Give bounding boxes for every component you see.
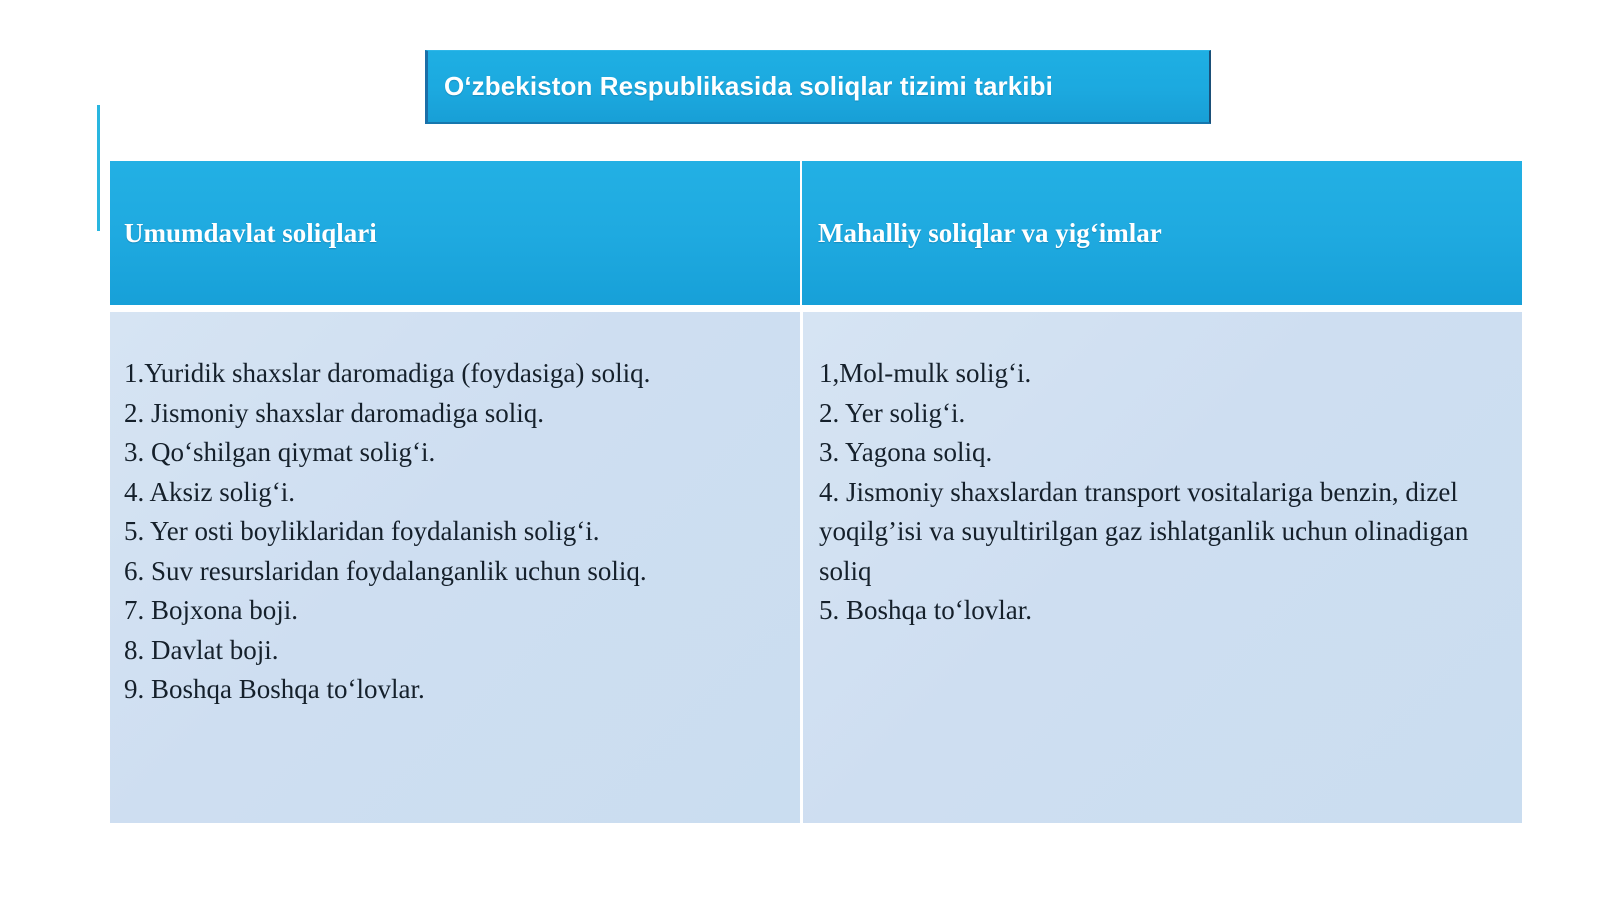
list-item: 4. Jismoniy shaxslardan transport vosita… — [819, 473, 1512, 592]
tax-list-national: 1.Yuridik shaxslar daromadiga (foydasiga… — [124, 354, 790, 710]
list-item: 6. Suv resurslaridan foydalanganlik uchu… — [124, 552, 790, 592]
left-accent-bar — [97, 105, 100, 231]
list-item: 3. Yagona soliq. — [819, 433, 1512, 473]
list-item: 8. Davlat boji. — [124, 631, 790, 671]
header-body-divider — [110, 305, 1522, 312]
table-body-cell-mahalliy: 1,Mol-mulk solig‘i. 2. Yer solig‘i. 3. Y… — [800, 312, 1522, 823]
list-item: 7. Bojxona boji. — [124, 591, 790, 631]
taxes-table: Umumdavlat soliqlari Mahalliy soliqlar v… — [110, 161, 1522, 823]
column-header-label-right: Mahalliy soliqlar va yig‘imlar — [818, 218, 1162, 249]
list-item: 3. Qo‘shilgan qiymat solig‘i. — [124, 433, 790, 473]
list-item: 4. Aksiz solig‘i. — [124, 473, 790, 513]
table-header-cell-umumdavlat: Umumdavlat soliqlari — [110, 161, 800, 305]
list-item: 2. Yer solig‘i. — [819, 394, 1512, 434]
list-item: 2. Jismoniy shaxslar daromadiga soliq. — [124, 394, 790, 434]
title-banner: O‘zbekiston Respublikasida soliqlar tizi… — [425, 50, 1211, 124]
list-item: 1,Mol-mulk solig‘i. — [819, 354, 1512, 394]
slide-canvas: O‘zbekiston Respublikasida soliqlar tizi… — [0, 0, 1600, 899]
list-item: 5. Yer osti boyliklaridan foydalanish so… — [124, 512, 790, 552]
list-item: 1.Yuridik shaxslar daromadiga (foydasiga… — [124, 354, 790, 394]
table-header-cell-mahalliy: Mahalliy soliqlar va yig‘imlar — [800, 161, 1522, 305]
slide-title: O‘zbekiston Respublikasida soliqlar tizi… — [444, 71, 1053, 102]
table-body-row: 1.Yuridik shaxslar daromadiga (foydasiga… — [110, 312, 1522, 823]
list-item: 5. Boshqa to‘lovlar. — [819, 591, 1512, 631]
tax-list-local: 1,Mol-mulk solig‘i. 2. Yer solig‘i. 3. Y… — [819, 354, 1512, 631]
column-header-label-left: Umumdavlat soliqlari — [124, 218, 377, 249]
list-item: 9. Boshqa Boshqa to‘lovlar. — [124, 670, 790, 710]
table-body-cell-umumdavlat: 1.Yuridik shaxslar daromadiga (foydasiga… — [110, 312, 800, 823]
table-header-row: Umumdavlat soliqlari Mahalliy soliqlar v… — [110, 161, 1522, 305]
